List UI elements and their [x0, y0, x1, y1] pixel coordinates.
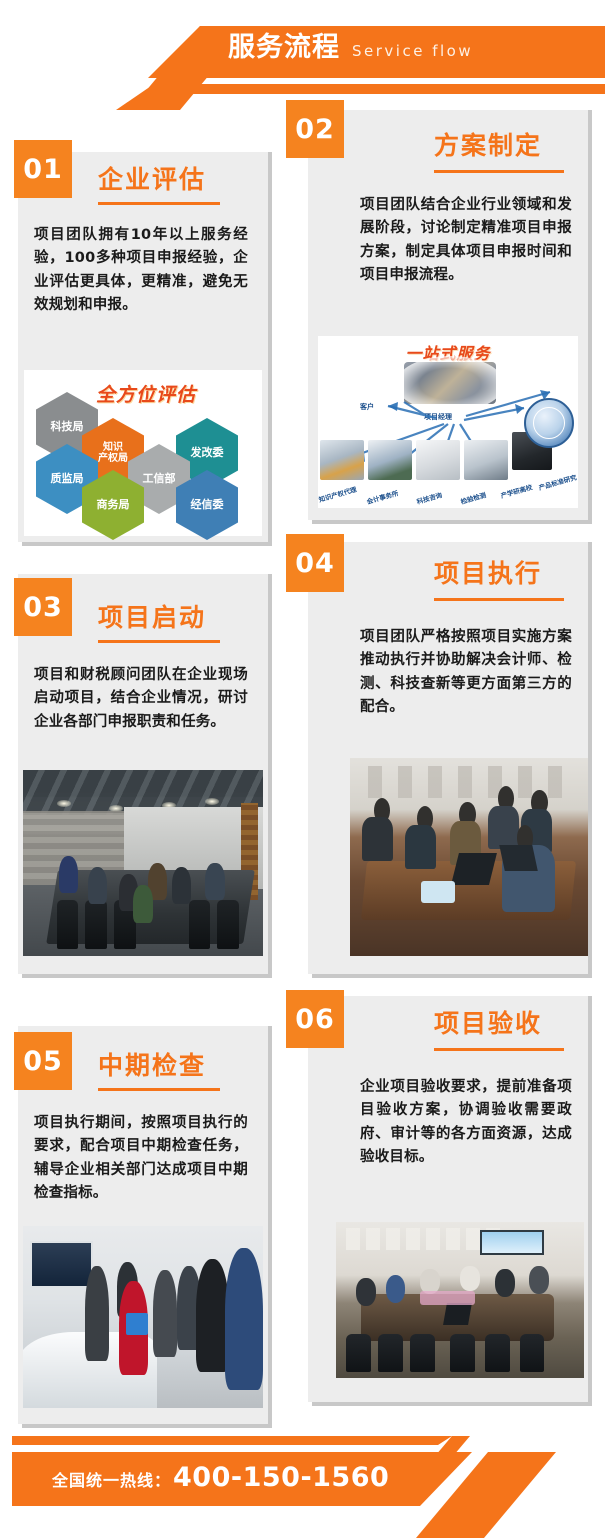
step-number-badge: 01 — [14, 140, 72, 198]
step-card-06: 06 项目验收 企业项目验收要求，提前准备项目验收方案，协调验收需要政府、审计等… — [308, 996, 588, 1402]
header-banner: 服务流程 Service flow — [0, 0, 605, 110]
hexagon-diagram-title: 全方位评估 — [96, 380, 196, 407]
footer-hotline-group: 全国统一热线： 400-150-1560 — [52, 1462, 389, 1493]
service-standard-seal — [524, 398, 574, 448]
service-thumb-inspection — [464, 440, 508, 480]
step-description: 企业项目验收要求，提前准备项目验收方案，协调验收需要政府、审计等的各方面资源，达… — [360, 1076, 572, 1170]
title-underline — [434, 1048, 564, 1051]
photo-conference-room — [23, 770, 263, 956]
footer-banner: 全国统一热线： 400-150-1560 — [0, 1428, 605, 1538]
infographic-page: 服务流程 Service flow 01 企业评估 项目团队拥有10年以上服务经… — [0, 0, 605, 1538]
header-title-en: Service flow — [352, 44, 473, 59]
step-title: 项目执行 — [434, 560, 542, 588]
step-card-03: 03 项目启动 项目和财税顾问团队在企业现场启动项目，结合企业情况，研讨企业各部… — [18, 574, 268, 974]
step-title: 项目启动 — [98, 604, 206, 632]
header-stripe — [150, 84, 605, 94]
one-stop-service-diagram: 一站式服务 客户 项目经理 — [318, 336, 578, 508]
step-title: 项目验收 — [434, 1010, 542, 1038]
step-number-badge: 06 — [286, 990, 344, 1048]
title-underline — [434, 170, 564, 173]
footer-hotline-number[interactable]: 400-150-1560 — [173, 1462, 389, 1493]
step-number-badge: 04 — [286, 534, 344, 592]
service-thumb-tech-consulting — [416, 440, 460, 480]
step-number-badge: 02 — [286, 100, 344, 158]
step-description: 项目执行期间，按照项目执行的要求，配合项目中期检查任务，辅导企业相关部门达成项目… — [34, 1112, 248, 1206]
step-number-badge: 05 — [14, 1032, 72, 1090]
step-card-04: 04 项目执行 项目团队严格按照项目实施方案推动执行并协助解决会计师、检测、科技… — [308, 542, 588, 974]
service-thumb-ip-agency — [320, 440, 364, 480]
step-description: 项目团队结合企业行业领域和发展阶段，讨论制定精准项目申报方案，制定具体项目申报时… — [360, 194, 572, 288]
footer-stripe — [12, 1436, 452, 1445]
photo-exhibition-visit — [23, 1226, 263, 1408]
step-description: 项目团队拥有10年以上服务经验，100多种项目申报经验，企业评估更具体，更精准，… — [34, 224, 248, 318]
step-description: 项目团队严格按照项目实施方案推动执行并协助解决会计师、检测、科技查新等更方面第三… — [360, 626, 572, 720]
step-card-01: 01 企业评估 项目团队拥有10年以上服务经验，100多种项目申报经验，企业评估… — [18, 152, 268, 542]
title-underline — [98, 640, 220, 643]
header-title-cn: 服务流程 — [228, 34, 340, 61]
footer-hotline-label: 全国统一热线： — [52, 1467, 171, 1491]
header-title-group: 服务流程 Service flow — [228, 34, 473, 61]
title-underline — [434, 598, 564, 601]
title-underline — [98, 202, 220, 205]
hexagon-diagram: 全方位评估 科技局 知识 产权局 发改委 质监局 工信部 商务局 经信委 — [24, 370, 262, 536]
step-title: 方案制定 — [434, 132, 542, 160]
step-number-badge: 03 — [14, 578, 72, 636]
title-underline — [98, 1088, 220, 1091]
photo-working-meeting — [350, 758, 588, 956]
step-card-05: 05 中期检查 项目执行期间，按照项目执行的要求，配合项目中期检查任务，辅导企业… — [18, 1026, 268, 1424]
step-description: 项目和财税顾问团队在企业现场启动项目，结合企业情况，研讨企业各部门申报职责和任务… — [34, 664, 248, 734]
photo-boardroom — [336, 1222, 584, 1378]
step-card-02: 02 方案制定 项目团队结合企业行业领域和发展阶段，讨论制定精准项目申报方案，制… — [308, 110, 588, 520]
service-thumb-accounting — [368, 440, 412, 480]
step-title: 中期检查 — [98, 1052, 206, 1080]
step-title: 企业评估 — [98, 166, 206, 194]
